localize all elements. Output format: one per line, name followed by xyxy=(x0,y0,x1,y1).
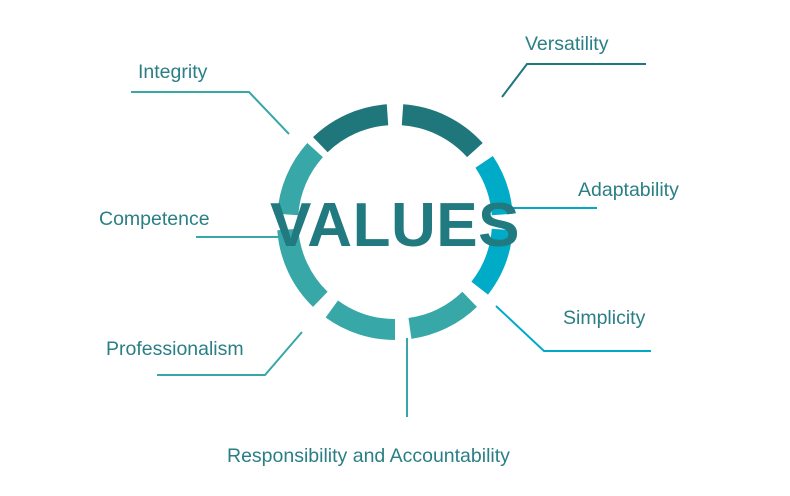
segment-versatility[interactable] xyxy=(402,104,483,157)
segment-integrity-leader-line xyxy=(131,92,289,134)
segment-versatility-leader-line xyxy=(502,64,646,97)
segment-integrity-dark-cap[interactable] xyxy=(313,104,388,152)
segment-simplicity-label[interactable]: Simplicity xyxy=(563,307,646,329)
segment-competence-label[interactable]: Competence xyxy=(99,208,210,230)
diagram-canvas: VersatilityAdaptabilitySimplicityRespons… xyxy=(0,0,790,496)
segment-versatility-label[interactable]: Versatility xyxy=(525,33,609,55)
segment-responsibility[interactable] xyxy=(409,292,477,339)
segment-professionalism-label[interactable]: Professionalism xyxy=(106,338,244,360)
segment-professionalism[interactable] xyxy=(326,300,395,340)
segment-adaptability-label[interactable]: Adaptability xyxy=(578,179,679,201)
segment-integrity-label[interactable]: Integrity xyxy=(138,61,208,83)
values-diagram: VersatilityAdaptabilitySimplicityRespons… xyxy=(0,0,790,496)
segment-responsibility-label[interactable]: Responsibility and Accountability xyxy=(227,445,510,467)
center-label-values: VALUES xyxy=(270,191,520,260)
